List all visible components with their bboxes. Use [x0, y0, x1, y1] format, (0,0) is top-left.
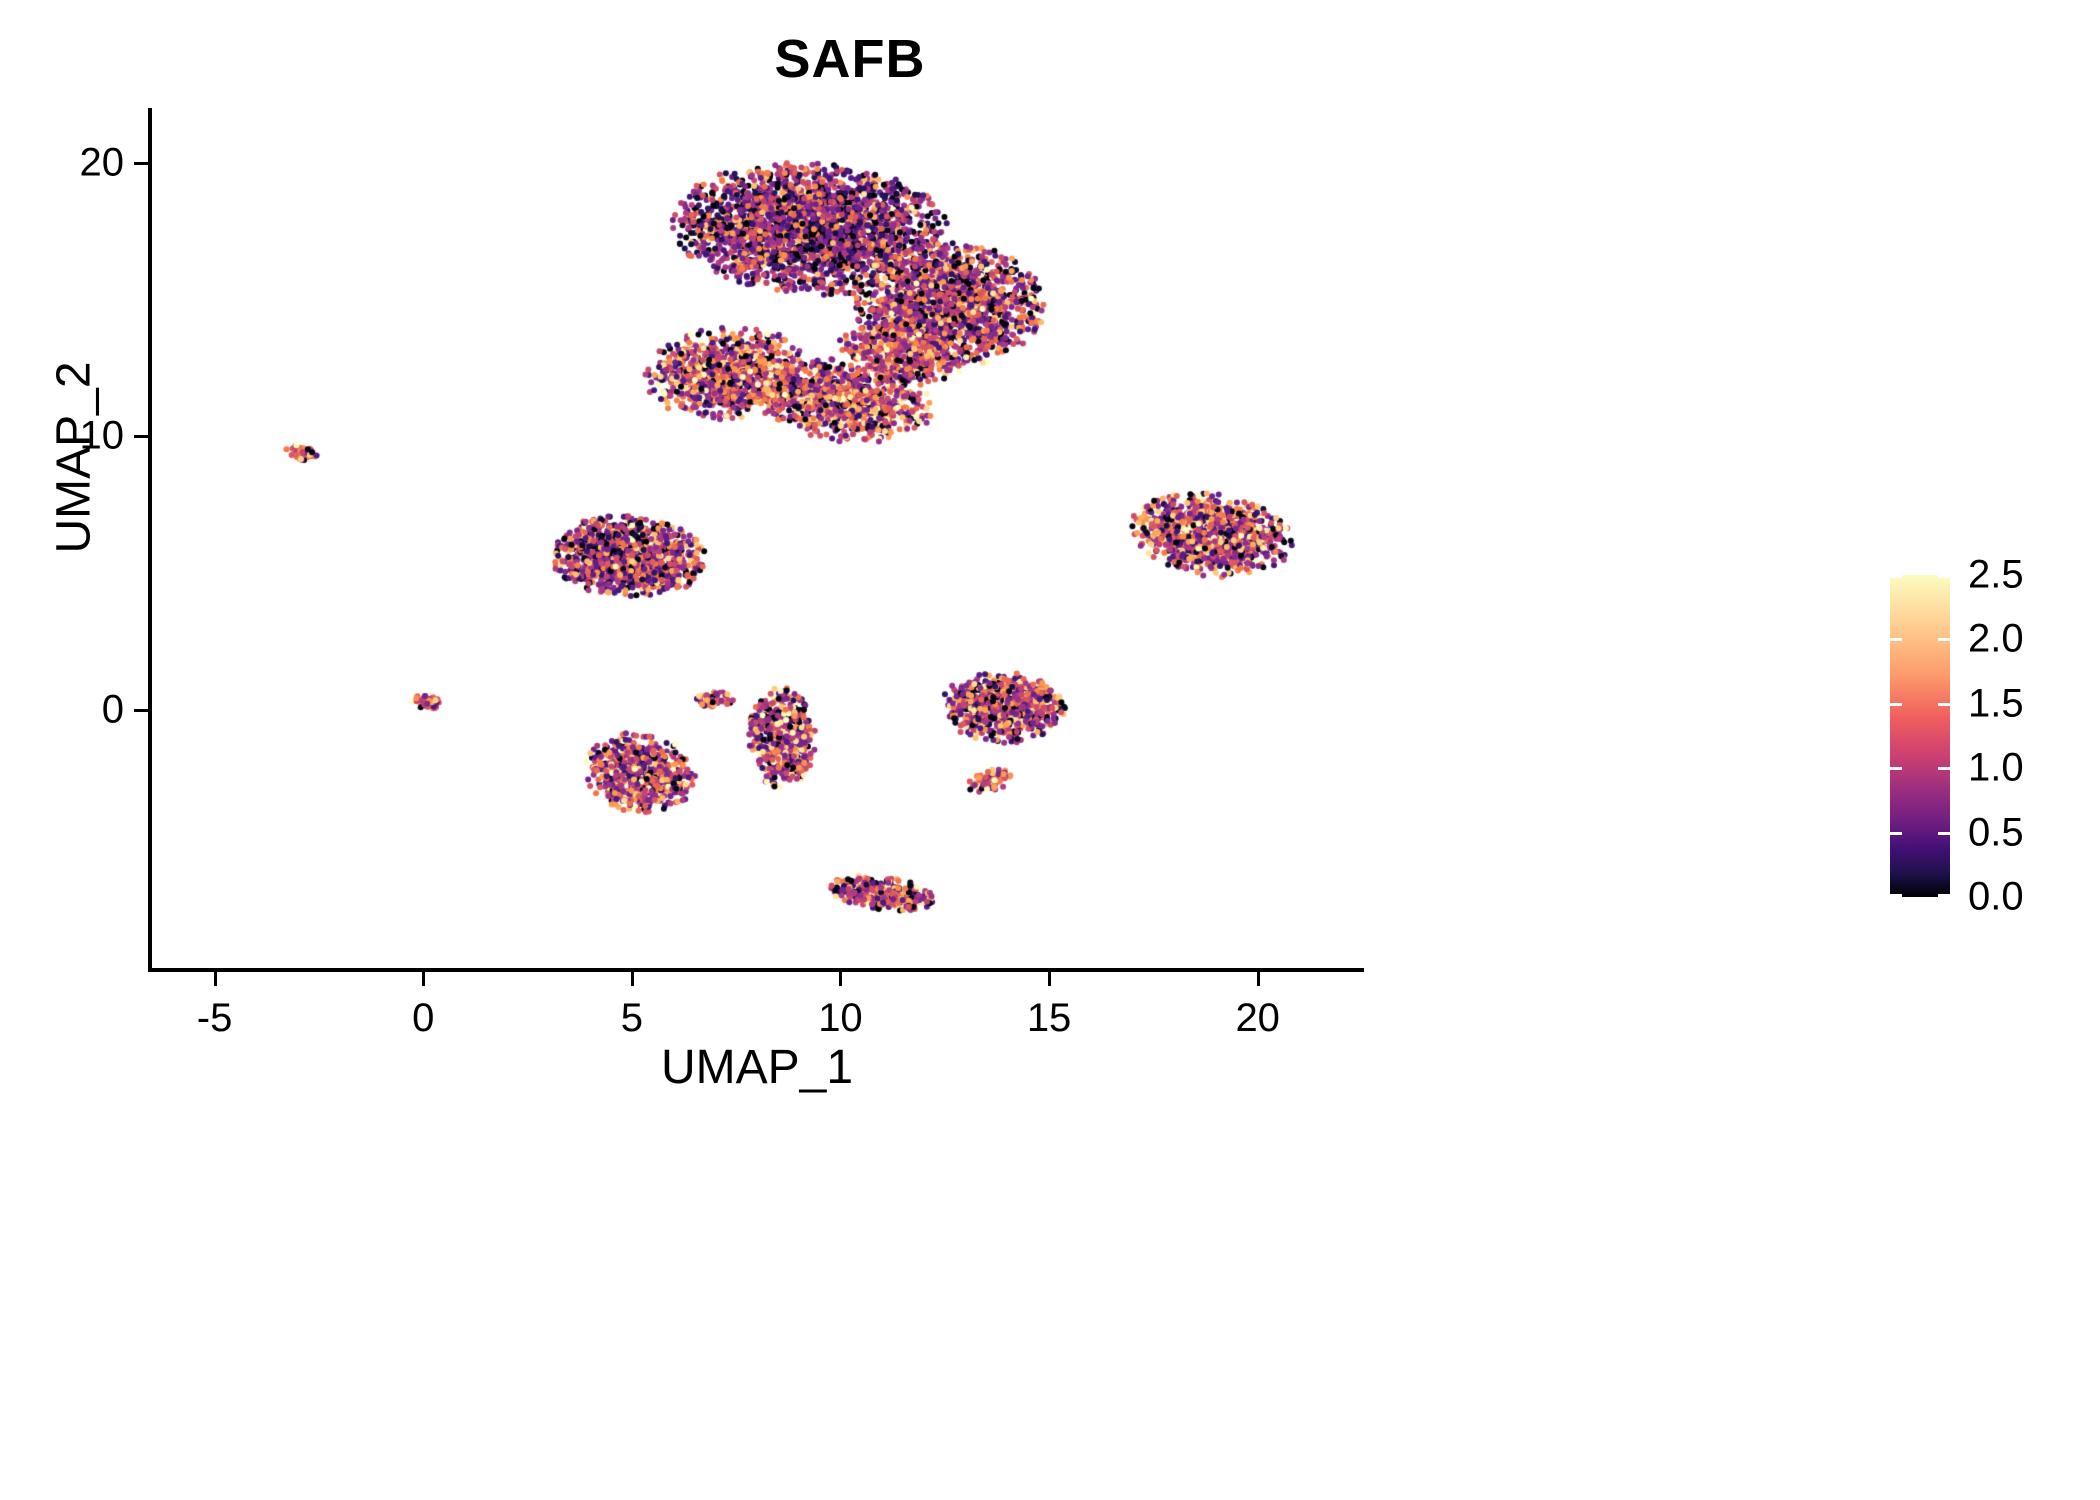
x-axis-title: UMAP_1: [152, 1040, 1362, 1095]
colorbar-tick-mark: [1938, 894, 1950, 897]
x-tick-label: 0: [343, 996, 503, 1041]
colorbar-tick-mark: [1890, 575, 1902, 578]
x-tick-label: 20: [1178, 996, 1338, 1041]
x-tick-label: -5: [135, 996, 295, 1041]
y-tick-mark: [134, 435, 148, 438]
y-tick-mark: [134, 162, 148, 165]
y-axis-title: UMAP_2: [47, 188, 102, 728]
colorbar-tick-mark: [1938, 767, 1950, 770]
colorbar-tick-label: 1.5: [1968, 681, 2024, 726]
y-tick-label: 20: [0, 140, 124, 185]
colorbar-tick-label: 0.0: [1968, 875, 2024, 920]
colorbar-tick-label: 2.5: [1968, 553, 2024, 598]
x-tick-label: 15: [969, 996, 1129, 1041]
colorbar-tick-mark: [1938, 703, 1950, 706]
x-tick-mark: [839, 972, 842, 986]
colorbar-tick-mark: [1938, 832, 1950, 835]
y-tick-mark: [134, 709, 148, 712]
colorbar-tick-mark: [1890, 832, 1902, 835]
colorbar-tick-mark: [1938, 638, 1950, 641]
x-tick-mark: [422, 972, 425, 986]
colorbar-tick-mark: [1938, 575, 1950, 578]
colorbar-tick-label: 1.0: [1968, 746, 2024, 791]
x-tick-label: 5: [552, 996, 712, 1041]
colorbar-tick-mark: [1890, 703, 1902, 706]
colorbar-tick-mark: [1890, 638, 1902, 641]
plot-panel: [152, 108, 1362, 970]
x-axis-line: [148, 968, 1364, 972]
colorbar-tick-mark: [1890, 767, 1902, 770]
x-tick-mark: [1048, 972, 1051, 986]
colorbar-tick-label: 0.5: [1968, 810, 2024, 855]
x-tick-label: 10: [760, 996, 920, 1041]
y-axis-line: [148, 108, 152, 972]
colorbar-tick-label: 2.0: [1968, 617, 2024, 662]
colorbar-gradient: [1890, 575, 1950, 897]
x-tick-mark: [1257, 972, 1260, 986]
x-tick-mark: [631, 972, 634, 986]
scatter-points-canvas: [152, 108, 1362, 970]
x-tick-mark: [214, 972, 217, 986]
page-title: SAFB: [0, 28, 1700, 90]
colorbar-tick-mark: [1890, 894, 1902, 897]
umap-feature-plot: SAFB 01020 -505101520 UMAP_1 UMAP_2 2.52…: [0, 0, 2100, 1500]
